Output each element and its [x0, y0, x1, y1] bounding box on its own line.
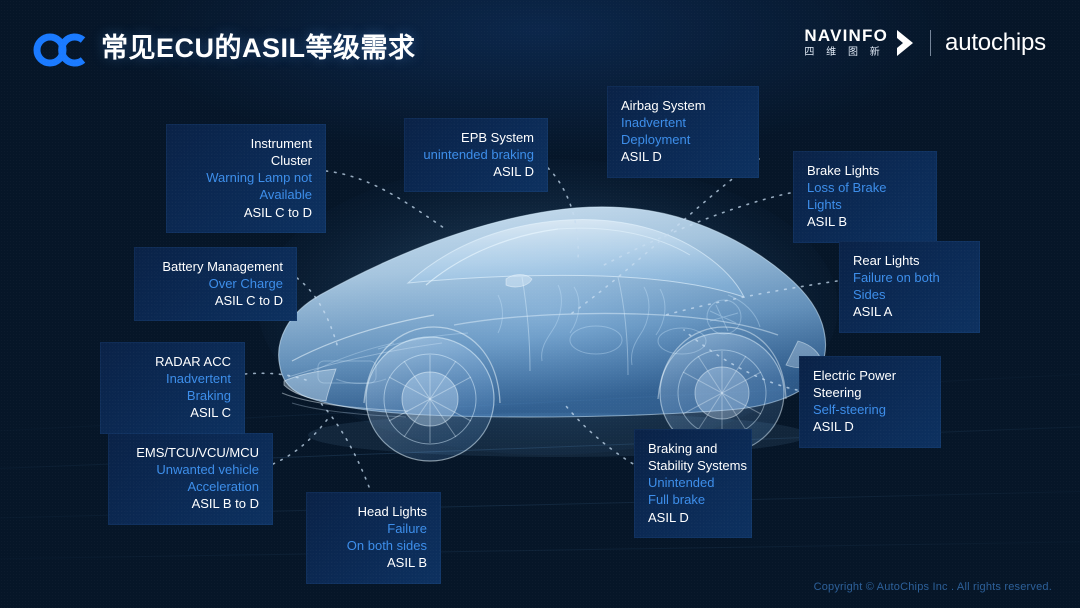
- brand-divider: [930, 30, 931, 56]
- callout-line: EPB System: [418, 129, 534, 146]
- callout-line: Failure: [320, 520, 427, 537]
- callout-ems-tcu-vcu-mcu[interactable]: EMS/TCU/VCU/MCU Unwanted vehicle Acceler…: [108, 433, 273, 525]
- callout-line: Steering: [813, 384, 927, 401]
- callout-line: On both sides: [320, 537, 427, 554]
- callout-asil-level: ASIL D: [813, 418, 927, 435]
- oc-logo-icon: [33, 28, 87, 72]
- callout-asil-level: ASIL B: [807, 213, 923, 230]
- callout-head-lights[interactable]: Head Lights Failure On both sides ASIL B: [306, 492, 441, 584]
- callout-asil-level: ASIL C to D: [180, 204, 312, 221]
- xray-car-illustration: [258, 135, 838, 465]
- callout-line: Sides: [853, 286, 966, 303]
- callout-line: Acceleration: [122, 478, 259, 495]
- chevron-right-icon: [894, 28, 916, 58]
- callout-line: unintended braking: [418, 146, 534, 163]
- callout-asil-level: ASIL B: [320, 554, 427, 571]
- background-streak: [0, 539, 1080, 561]
- callout-line: Brake Lights: [807, 162, 923, 179]
- callout-line: Warning Lamp not: [180, 169, 312, 186]
- callout-line: Available: [180, 186, 312, 203]
- autochips-logo: autochips: [945, 29, 1046, 57]
- callout-line: Unintended: [648, 474, 738, 491]
- slide-canvas: 常见ECU的ASIL等级需求 NAVINFO 四 维 图 新 autochips…: [0, 0, 1080, 608]
- callout-line: Head Lights: [320, 503, 427, 520]
- callout-line: Instrument: [180, 135, 312, 152]
- callout-line: Inadvertent: [114, 370, 231, 387]
- callout-asil-level: ASIL C: [114, 404, 231, 421]
- callout-line: EMS/TCU/VCU/MCU: [122, 444, 259, 461]
- callout-asil-level: ASIL D: [648, 509, 738, 526]
- callout-line: Battery Management: [148, 258, 283, 275]
- callout-asil-level: ASIL A: [853, 303, 966, 320]
- callout-line: Full brake: [648, 491, 738, 508]
- callout-asil-level: ASIL D: [621, 148, 745, 165]
- callout-radar-acc[interactable]: RADAR ACC Inadvertent Braking ASIL C: [100, 342, 245, 434]
- navinfo-logo: NAVINFO 四 维 图 新: [804, 27, 916, 58]
- callout-instrument-cluster[interactable]: Instrument Cluster Warning Lamp not Avai…: [166, 124, 326, 233]
- callout-line: Failure on both: [853, 269, 966, 286]
- callout-airbag-system[interactable]: Airbag System Inadvertent Deployment ASI…: [607, 86, 759, 178]
- callout-line: Deployment: [621, 131, 745, 148]
- callout-line: Unwanted vehicle: [122, 461, 259, 478]
- callout-asil-level: ASIL B to D: [122, 495, 259, 512]
- callout-line: Airbag System: [621, 97, 745, 114]
- callout-asil-level: ASIL D: [418, 163, 534, 180]
- navinfo-name-en: NAVINFO: [804, 27, 888, 44]
- callout-line: Braking: [114, 387, 231, 404]
- callout-line: Stability Systems: [648, 457, 738, 474]
- callout-line: Rear Lights: [853, 252, 966, 269]
- callout-line: Self-steering: [813, 401, 927, 418]
- callout-line: Lights: [807, 196, 923, 213]
- callout-electric-power-steering[interactable]: Electric Power Steering Self-steering AS…: [799, 356, 941, 448]
- callout-line: Inadvertent: [621, 114, 745, 131]
- callout-asil-level: ASIL C to D: [148, 292, 283, 309]
- callout-line: Over Charge: [148, 275, 283, 292]
- callout-brake-lights[interactable]: Brake Lights Loss of Brake Lights ASIL B: [793, 151, 937, 243]
- page-title: 常见ECU的ASIL等级需求: [101, 26, 416, 65]
- copyright-footer: Copyright © AutoChips Inc . All rights r…: [814, 581, 1052, 593]
- navinfo-name-cn: 四 维 图 新: [804, 48, 884, 58]
- callout-braking-stability-systems[interactable]: Braking and Stability Systems Unintended…: [634, 429, 752, 538]
- callout-line: Braking and: [648, 440, 738, 457]
- callout-line: Loss of Brake: [807, 179, 923, 196]
- callout-line: RADAR ACC: [114, 353, 231, 370]
- callout-rear-lights[interactable]: Rear Lights Failure on both Sides ASIL A: [839, 241, 980, 333]
- brand-bar: NAVINFO 四 维 图 新 autochips: [804, 27, 1046, 58]
- callout-epb-system[interactable]: EPB System unintended braking ASIL D: [404, 118, 548, 192]
- callout-line: Electric Power: [813, 367, 927, 384]
- callout-line: Cluster: [180, 152, 312, 169]
- callout-battery-management[interactable]: Battery Management Over Charge ASIL C to…: [134, 247, 297, 321]
